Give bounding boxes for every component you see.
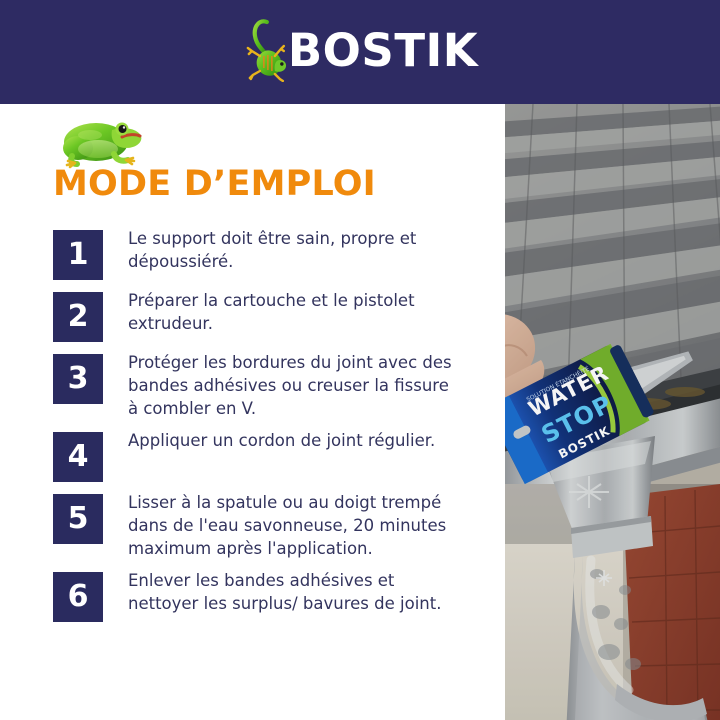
step-text: Préparer la cartouche et le pistolet ext…: [128, 289, 493, 335]
step-number-badge: 5: [53, 494, 103, 544]
brand-header-bar: BOSTIK: [0, 0, 720, 104]
step-number-badge: 1: [53, 230, 103, 280]
list-item: 2 Préparer la cartouche et le pistolet e…: [53, 292, 493, 342]
brand-wordmark: BOSTIK: [288, 28, 478, 73]
bostik-logo: BOSTIK: [242, 14, 478, 84]
step-number-badge: 2: [53, 292, 103, 342]
product-instruction-panel: BOSTIK: [0, 0, 720, 720]
list-item: 3 Protéger les bordures du joint avec de…: [53, 354, 493, 420]
step-text: Appliquer un cordon de joint régulier.: [128, 429, 493, 452]
step-text: Le support doit être sain, propre et dép…: [128, 227, 493, 273]
step-number-badge: 6: [53, 572, 103, 622]
step-number-badge: 4: [53, 432, 103, 482]
instructions-column: MODE D’EMPLOI 1 Le support doit être sai…: [0, 104, 505, 720]
list-item: 1 Le support doit être sain, propre et d…: [53, 230, 493, 280]
list-item: 6 Enlever les bandes adhésives et nettoy…: [53, 572, 493, 622]
green-gecko-mascot-icon: [54, 108, 146, 170]
step-text: Protéger les bordures du joint avec des …: [128, 351, 493, 420]
list-item: 4 Appliquer un cordon de joint régulier.: [53, 432, 493, 482]
gecko-icon: [242, 16, 288, 82]
list-item: 5 Lisser à la spatule ou au doigt trempé…: [53, 494, 493, 560]
step-text: Lisser à la spatule ou au doigt trempé d…: [128, 491, 493, 560]
step-text: Enlever les bandes adhésives et nettoyer…: [128, 569, 493, 615]
page-title: MODE D’EMPLOI: [53, 164, 376, 204]
steps-list: 1 Le support doit être sain, propre et d…: [53, 230, 493, 634]
application-photo: WATER STOP BOSTIK SOLUTION ÉTANCHÉITÉ: [505, 104, 720, 720]
step-number-badge: 3: [53, 354, 103, 404]
